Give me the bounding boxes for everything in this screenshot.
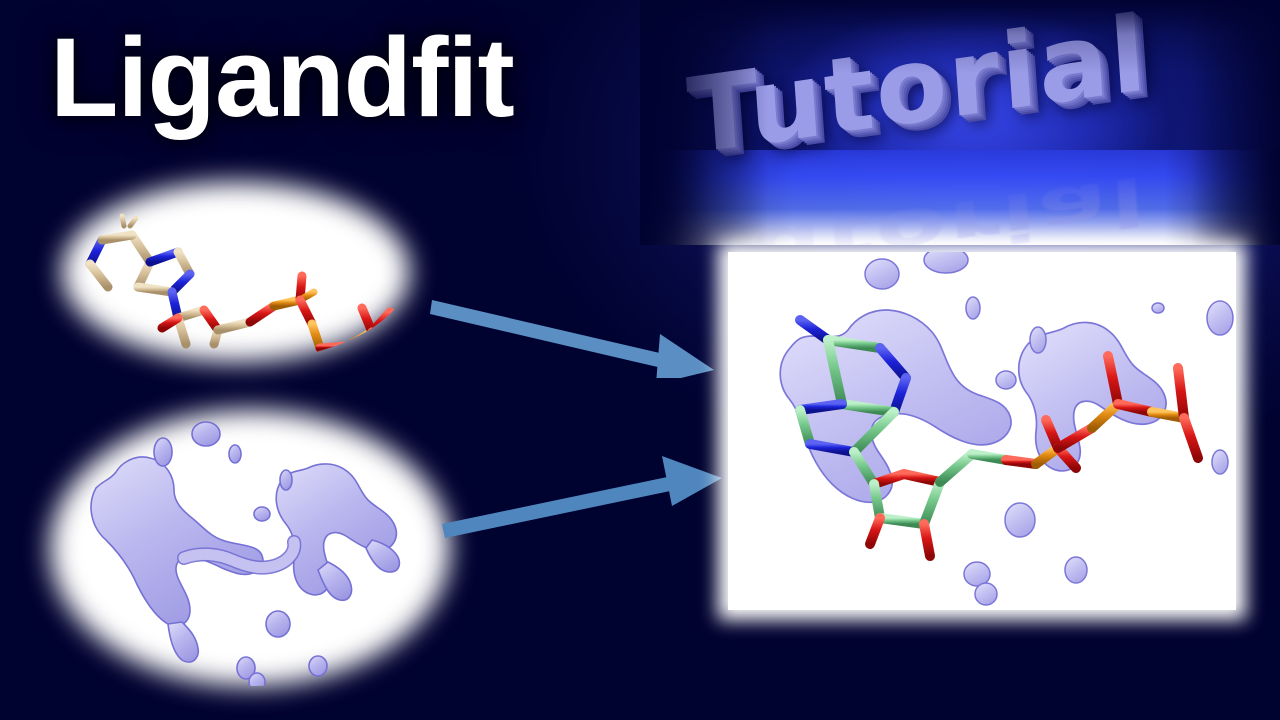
density-drip-1 xyxy=(168,622,198,662)
fitted-result-panel xyxy=(728,252,1236,610)
density-fragment-2 xyxy=(154,438,172,466)
arrow-1-shape xyxy=(430,300,714,378)
density-fragment-1 xyxy=(192,422,220,446)
density-panel-clip xyxy=(50,410,450,686)
density-fragment-3 xyxy=(229,445,241,463)
density-map-graphic xyxy=(50,410,450,686)
density-blob-left xyxy=(91,457,263,626)
tutorial-banner-image: Tutorial Tutorial xyxy=(640,0,1280,245)
ligand-model-graphic xyxy=(62,182,410,362)
page-title: Ligandfit xyxy=(50,22,514,134)
ligand-panel-clip xyxy=(62,182,410,362)
density-fragment-9 xyxy=(309,656,327,676)
banner-vignette xyxy=(640,0,1280,245)
arrow-ligand-to-result xyxy=(428,288,718,378)
density-fragment-5 xyxy=(254,507,270,521)
arrow-density-to-result xyxy=(440,452,725,542)
arrow-2-shape xyxy=(442,456,722,538)
density-drip-2 xyxy=(318,562,352,600)
result-card-inner xyxy=(728,252,1236,610)
ligand-model-panel xyxy=(62,182,410,362)
density-fragment-4 xyxy=(280,470,292,490)
density-fragment-6 xyxy=(266,611,290,637)
slide-canvas: Tutorial Tutorial Ligandfit xyxy=(0,0,1280,720)
fitted-result-graphic xyxy=(728,252,1236,610)
density-map-panel xyxy=(50,410,450,686)
density-drip-3 xyxy=(366,540,399,572)
density-fragment-8 xyxy=(249,673,265,686)
